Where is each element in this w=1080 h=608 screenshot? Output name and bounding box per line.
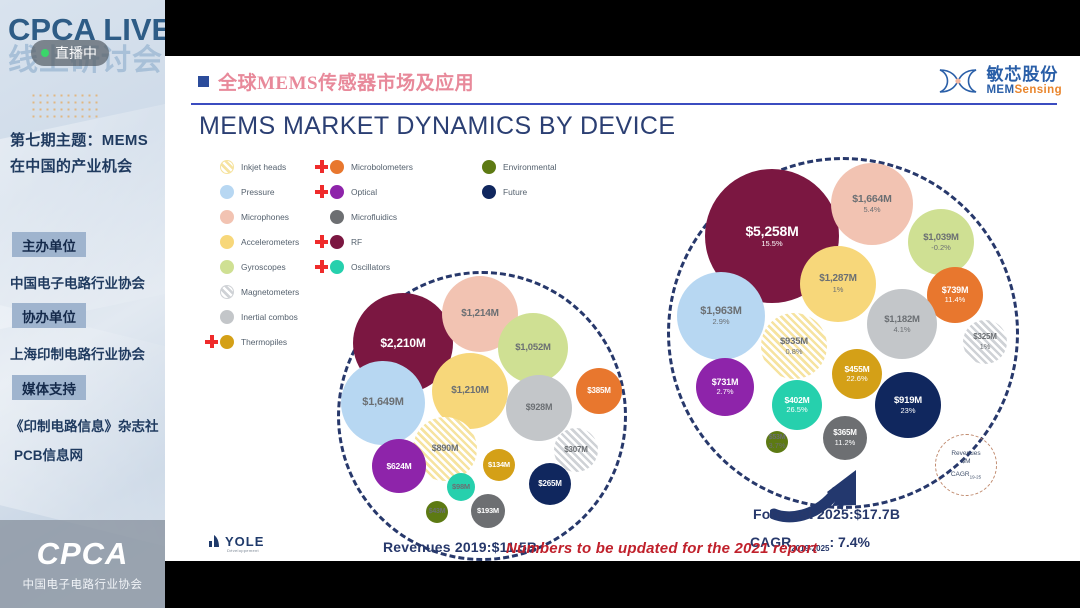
legend-column-3: EnvironmentalFuture — [467, 154, 557, 204]
bubble-value: $1,664M — [852, 194, 891, 205]
medical-cross-icon — [315, 235, 328, 248]
media-chip-label: 媒体支持 — [22, 378, 76, 398]
legend-swatch-icon — [220, 185, 234, 199]
presentation-slide[interactable]: 全球MEMS传感器市场及应用 敏芯股份 MEMSensing MEMS MARK… — [165, 56, 1080, 561]
media-name-1: 《印制电路信息》杂志社 — [10, 415, 159, 435]
legend-item-inertial-combos: Inertial combos — [205, 304, 299, 329]
yole-logo: YOLE Développement — [207, 531, 264, 549]
bubble-gyroscopes-2025[interactable]: $1,039M-0.2% — [908, 209, 974, 275]
bubble-value: $365M — [833, 429, 856, 437]
bubble-value: $134M — [488, 461, 510, 469]
legend-label: Pressure — [241, 187, 275, 197]
bubble-cagr: 11.2% — [835, 439, 856, 447]
legend-item-microbolometers: Microbolometers — [315, 154, 413, 179]
legend-swatch-icon — [220, 260, 234, 274]
coorganizer-name: 上海印制电路行业协会 — [10, 343, 145, 363]
key-cagr-label: CAGR — [951, 471, 970, 478]
bubble-value: $928M — [526, 403, 553, 412]
legend-label: Thermopiles — [241, 337, 287, 347]
legend-column-1: Inkjet headsPressureMicrophonesAccelerom… — [205, 154, 299, 354]
bubble-pressure-2019[interactable]: $1,649M — [341, 361, 425, 445]
yole-mark-icon — [207, 531, 223, 549]
bubble-value: $265M — [538, 480, 561, 488]
bubble-optical-2025[interactable]: $731M2.7% — [696, 358, 754, 416]
legend-swatch-icon — [482, 185, 496, 199]
bubble-value: $307M — [564, 446, 587, 454]
bubble-cagr: 26.5% — [786, 406, 807, 414]
bubble-value: $5,258M — [745, 224, 798, 239]
legend-item-environmental: Environmental — [467, 154, 557, 179]
legend-item-optical: Optical — [315, 179, 413, 204]
bubble-microbolometers-2019[interactable]: $385M — [576, 368, 622, 414]
live-dot-icon — [41, 49, 49, 57]
footer-org-name: 中国电子电路行业协会 — [23, 576, 143, 592]
legend-label: Optical — [351, 187, 377, 197]
bubble-optical-2019[interactable]: $624M — [372, 439, 426, 493]
key-revenues-label: Revenues — [951, 450, 980, 457]
caption-2025: Forecast 2025:$17.7B — [753, 506, 900, 522]
bubble-value: $2,210M — [380, 337, 425, 350]
bubble-value: $455M — [845, 365, 870, 374]
bubble-value: $919M — [894, 396, 922, 406]
bubble-value: $1,052M — [515, 343, 551, 353]
legend-cross-spacer — [467, 185, 480, 198]
legend-swatch-icon — [330, 235, 344, 249]
footer-logo-text: CPCA — [37, 536, 129, 572]
legend-swatch-icon — [220, 285, 234, 299]
legend-item-oscillators: Oscillators — [315, 254, 413, 279]
bubble-oscillators-2025[interactable]: $402M26.5% — [772, 380, 822, 430]
organizer-name: 中国电子电路行业协会 — [10, 272, 145, 292]
media-chip: 媒体支持 — [12, 375, 86, 400]
logo-chinese-name: 敏芯股份 — [986, 66, 1062, 84]
legend-item-microphones: Microphones — [205, 204, 299, 229]
bubble-value: $1,963M — [700, 306, 741, 318]
legend-cross-spacer — [205, 160, 218, 173]
bubble-value: $731M — [712, 378, 739, 387]
legend-label: Oscillators — [351, 262, 390, 272]
medical-cross-icon — [205, 335, 218, 348]
bubble-value: $98M — [452, 483, 470, 491]
live-badge-label: 直播中 — [55, 46, 97, 60]
legend-cross-spacer — [205, 185, 218, 198]
organizer-chip: 主办单位 — [12, 232, 86, 257]
bubble-value: $53M — [769, 434, 786, 441]
bubble-value: $402M — [785, 396, 810, 405]
legend-label: Accelerometers — [241, 237, 299, 247]
key-cagr: CAGR19-25 — [951, 471, 981, 479]
bubble-future-2019[interactable]: $265M — [529, 463, 571, 505]
bubble-value: $325M — [973, 333, 996, 341]
legend-swatch-icon — [220, 310, 234, 324]
header-bullet-icon — [198, 76, 209, 87]
bubble-inertial-combos-2025[interactable]: $1,182M4.1% — [867, 289, 937, 359]
legend-label: RF — [351, 237, 362, 247]
coorganizer-chip: 协办单位 — [12, 303, 86, 328]
bubble-thermopiles-2019[interactable]: $134M — [483, 449, 515, 481]
medical-cross-icon — [315, 160, 328, 173]
bubble-value: $935M — [780, 337, 808, 347]
legend-swatch-icon — [330, 185, 344, 199]
legend-cross-spacer — [467, 160, 480, 173]
bubble-oscillators-2019[interactable]: $98M — [447, 473, 475, 501]
sidebar-footer: CPCA 中国电子电路行业协会 — [0, 520, 165, 608]
bubble-environmental-2019[interactable]: $43M — [426, 501, 448, 523]
legend-cross-spacer — [205, 310, 218, 323]
legend-label: Microbolometers — [351, 162, 413, 172]
bubble-environmental-2025[interactable]: $53M3.7% — [766, 431, 788, 453]
bubble-value: $1,214M — [461, 309, 499, 320]
legend-swatch-icon — [330, 210, 344, 224]
legend-swatch-icon — [330, 160, 344, 174]
legend-cross-spacer — [205, 210, 218, 223]
header-rule — [191, 103, 1057, 105]
legend-cross-spacer — [315, 210, 328, 223]
bubble-magnetometers-2025[interactable]: $325M1% — [963, 320, 1007, 364]
bubble-cagr: 22.6% — [846, 375, 867, 383]
legend-label: Magnetometers — [241, 287, 299, 297]
legend-swatch-icon — [482, 160, 496, 174]
logo-en-mem: MEM — [986, 84, 1014, 96]
slide-title: MEMS MARKET DYNAMICS BY DEVICE — [199, 112, 675, 141]
legend-label: Future — [503, 187, 527, 197]
session-title: 第七期主题：MEMS在中国的产业机会 — [10, 128, 160, 180]
legend-column-2: MicrobolometersOpticalMicrofluidicsRFOsc… — [315, 154, 413, 279]
bubble-cagr: 1% — [980, 343, 991, 351]
bubble-microphones-2025[interactable]: $1,664M5.4% — [831, 163, 913, 245]
media-name-2: PCB信息网 — [14, 444, 83, 464]
bubble-value: $624M — [387, 462, 412, 471]
key-revenues: Revenues $M — [951, 450, 980, 466]
coorganizer-chip-label: 协办单位 — [22, 306, 76, 326]
legend-label: Inertial combos — [241, 312, 298, 322]
bubble-value: $193M — [477, 507, 499, 515]
legend-item-pressure: Pressure — [205, 179, 299, 204]
bubble-inkjet-heads-2025[interactable]: $935M0.8% — [761, 313, 827, 379]
live-status-badge[interactable]: 直播中 — [31, 40, 109, 66]
legend-item-future: Future — [467, 179, 557, 204]
bubble-value: $1,287M — [819, 274, 857, 285]
bubble-inertial-combos-2019[interactable]: $928M — [506, 375, 572, 441]
logo-en-sensing: Sensing — [1014, 84, 1062, 96]
organizer-chip-label: 主办单位 — [22, 235, 76, 255]
bubble-value: $1,039M — [923, 233, 959, 243]
yole-wordmark: YOLE — [225, 534, 264, 549]
legend-cross-spacer — [205, 235, 218, 248]
key-cagr-period: 19-25 — [970, 475, 982, 480]
legend-item-accelerometers: Accelerometers — [205, 229, 299, 254]
bubble-cagr: 1% — [833, 286, 844, 294]
bubble-cagr: 0.8% — [785, 348, 802, 356]
legend-item-magnetometers: Magnetometers — [205, 279, 299, 304]
slide-header-cn: 全球MEMS传感器市场及应用 — [218, 68, 474, 95]
bubble-microfluidics-2025[interactable]: $365M11.2% — [823, 416, 867, 460]
bubble-cagr: 5.4% — [863, 206, 880, 214]
bubble-value: $1,649M — [362, 397, 403, 409]
legend-swatch-icon — [220, 235, 234, 249]
bubble-value: $739M — [942, 286, 969, 295]
bubble-value: $43M — [429, 508, 446, 515]
legend-swatch-icon — [220, 160, 234, 174]
logo-english-name: MEMSensing — [986, 84, 1062, 96]
bubble-future-2025[interactable]: $919M23% — [875, 372, 941, 438]
yole-tagline: Développement — [227, 548, 259, 553]
legend-swatch-icon — [220, 335, 234, 349]
bubble-value: $1,182M — [884, 315, 920, 325]
bubble-thermopiles-2025[interactable]: $455M22.6% — [832, 349, 882, 399]
legend-cross-spacer — [205, 260, 218, 273]
bubble-cagr: 4.1% — [893, 326, 910, 334]
bubble-microfluidics-2019[interactable]: $193M — [471, 494, 505, 528]
bubble-cagr: 2.9% — [712, 318, 729, 326]
legend-item-gyroscopes: Gyroscopes — [205, 254, 299, 279]
legend-item-thermopiles: Thermopiles — [205, 329, 299, 354]
legend-cross-spacer — [205, 285, 218, 298]
chart-key-circle: Revenues $M CAGR19-25 — [935, 434, 997, 496]
bubble-pressure-2025[interactable]: $1,963M2.9% — [677, 272, 765, 360]
legend-label: Gyroscopes — [241, 262, 286, 272]
bubble-cagr: 23% — [900, 407, 915, 415]
legend-label: Environmental — [503, 162, 557, 172]
legend-label: Microfluidics — [351, 212, 397, 222]
live-sidebar: CPCA LIVE 线上研讨会 直播中 第七期主题：MEMS在中国的产业机会 主… — [0, 0, 165, 608]
bubble-cagr: 3.7% — [768, 442, 785, 450]
legend-label: Inkjet heads — [241, 162, 286, 172]
footer-note: Numbers to be updated for the 2021 repor… — [506, 540, 818, 557]
legend-swatch-icon — [220, 210, 234, 224]
medical-cross-icon — [315, 260, 328, 273]
bubble-value: $1,210M — [451, 386, 489, 397]
bubble-value: $385M — [587, 387, 610, 395]
bubble-value: $890M — [432, 444, 459, 453]
legend-swatch-icon — [330, 260, 344, 274]
memsensing-logo: 敏芯股份 MEMSensing — [936, 66, 1062, 96]
medical-cross-icon — [315, 185, 328, 198]
legend-item-microfluidics: Microfluidics — [315, 204, 413, 229]
memsensing-mark-icon — [936, 66, 980, 96]
cagr-value: : 7.4% — [830, 534, 870, 550]
bubble-gyroscopes-2019[interactable]: $1,052M — [498, 313, 568, 383]
legend-label: Microphones — [241, 212, 289, 222]
bubble-cagr: 2.7% — [716, 388, 733, 396]
bubble-cagr: 11.4% — [945, 296, 966, 304]
legend-item-inkjet-heads: Inkjet heads — [205, 154, 299, 179]
key-unit-label: $M — [961, 458, 970, 465]
screen: CPCA LIVE 线上研讨会 直播中 第七期主题：MEMS在中国的产业机会 主… — [0, 0, 1080, 608]
legend-item-rf: RF — [315, 229, 413, 254]
dot-grid-decoration — [30, 92, 100, 118]
bubble-cagr: -0.2% — [931, 244, 951, 252]
bubble-cagr: 15.5% — [761, 240, 782, 248]
bubble-accelerometers-2025[interactable]: $1,287M1% — [800, 246, 876, 322]
